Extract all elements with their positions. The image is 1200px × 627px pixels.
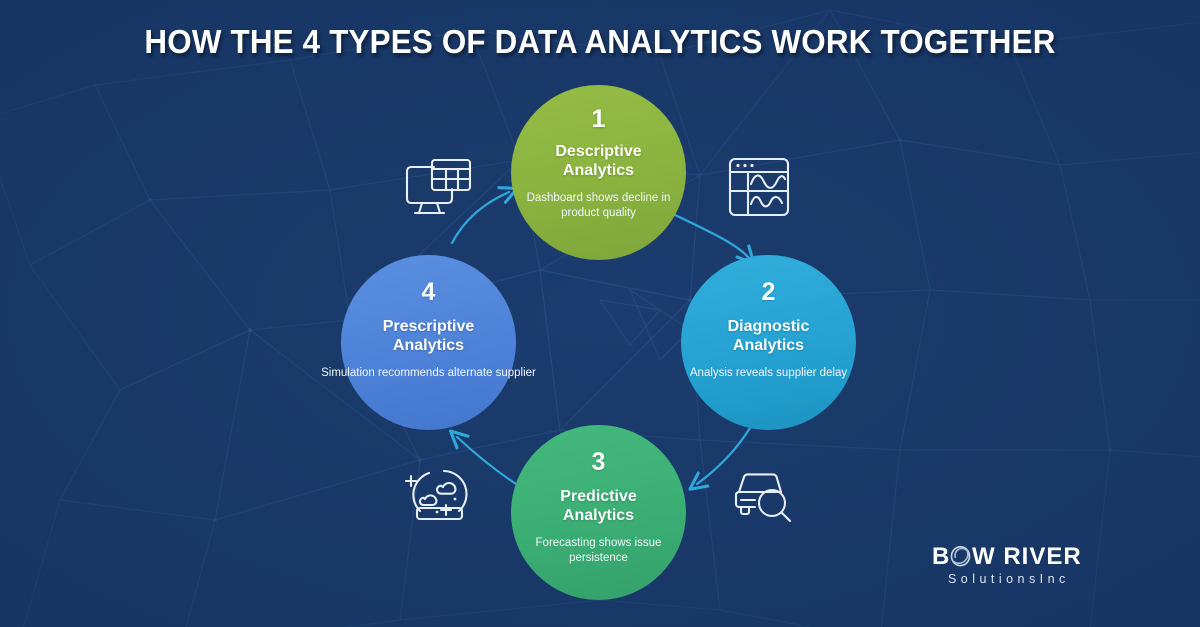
node-diagnostic-analytics[interactable]: 2 Diagnostic Analytics Analysis reveals … <box>681 255 856 430</box>
node-number: 3 <box>592 450 606 475</box>
node-title-line2: Analytics <box>563 507 634 524</box>
logo-swirl-icon <box>952 547 970 566</box>
node-prescriptive-analytics[interactable]: 4 Prescriptive Analytics Simulation reco… <box>341 255 516 430</box>
node-title-line1: Prescriptive <box>383 318 475 335</box>
logo-tagline: S o l u t i o n s I n c <box>948 572 1066 586</box>
node-title-line1: Predictive <box>560 488 636 505</box>
node-number: 2 <box>762 280 776 305</box>
chart-window-icon <box>726 155 792 224</box>
logo-wordmark-river: W RIVER <box>972 543 1082 570</box>
desktop-dashboard-icon <box>402 155 476 226</box>
page-title: HOW THE 4 TYPES OF DATA ANALYTICS WORK T… <box>30 22 1170 62</box>
node-description: Simulation recommends alternate supplier <box>321 366 536 381</box>
logo-wordmark-bow: B <box>932 543 950 570</box>
node-title-line2: Analytics <box>733 337 804 354</box>
node-title-line1: Diagnostic <box>728 318 810 335</box>
node-description: Forecasting shows issue persistence <box>511 536 686 566</box>
crystal-ball-forecast-icon <box>402 462 476 533</box>
company-logo[interactable]: B W RIVER S o l u t i o n s I n c <box>932 542 1144 590</box>
node-title-line2: Analytics <box>563 162 634 179</box>
node-description: Analysis reveals supplier delay <box>690 366 847 381</box>
node-descriptive-analytics[interactable]: 1 Descriptive Analytics Dashboard shows … <box>511 85 686 260</box>
node-predictive-analytics[interactable]: 3 Predictive Analytics Forecasting shows… <box>511 425 686 600</box>
node-title-line1: Descriptive <box>555 143 641 160</box>
node-number: 1 <box>592 107 606 132</box>
node-title: Prescriptive Analytics <box>383 317 475 355</box>
node-title: Diagnostic Analytics <box>728 317 810 355</box>
node-title: Descriptive Analytics <box>555 142 641 180</box>
node-description: Dashboard shows decline in product quali… <box>511 191 686 221</box>
node-number: 4 <box>422 280 436 305</box>
infographic-canvas: HOW THE 4 TYPES OF DATA ANALYTICS WORK T… <box>0 0 1200 627</box>
node-title-line2: Analytics <box>393 337 464 354</box>
car-magnifier-icon <box>728 470 796 533</box>
node-title: Predictive Analytics <box>560 487 636 525</box>
